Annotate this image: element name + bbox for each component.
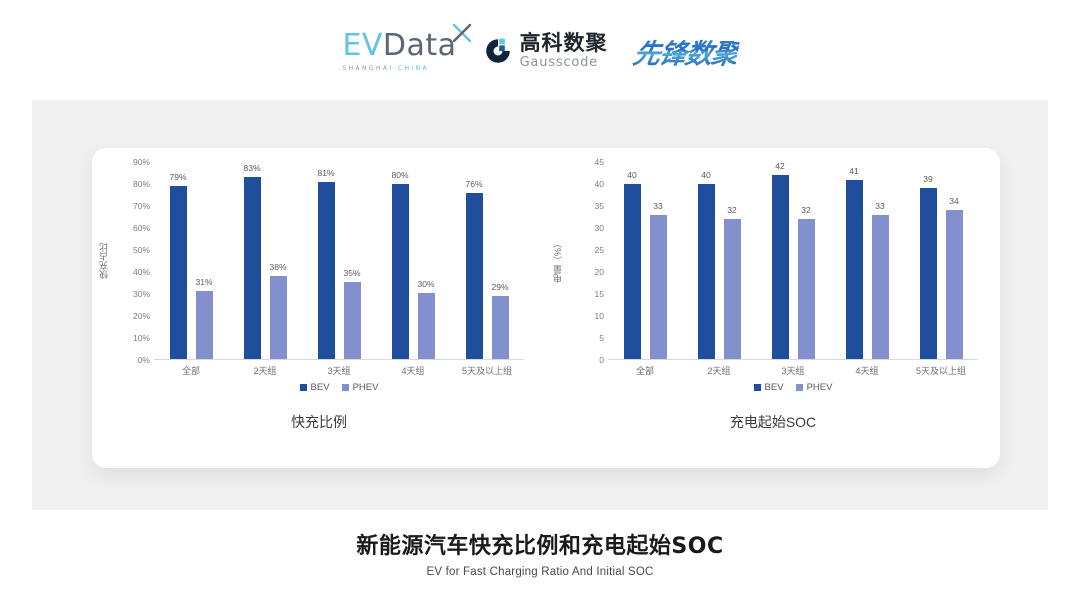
- y-tick-label: 20%: [133, 311, 150, 321]
- bar-fill: [492, 296, 509, 359]
- bar-bev[interactable]: 39: [920, 188, 937, 359]
- y-tick-label: 35: [595, 201, 604, 211]
- bar-fill: [698, 184, 715, 359]
- legend-swatch-bev: [754, 384, 761, 391]
- chart-title-left: 快充比例: [92, 412, 546, 432]
- x-tick-label: 全部: [608, 364, 682, 377]
- bar-value-label: 32: [801, 205, 810, 215]
- bar-value-label: 80%: [391, 170, 408, 180]
- bar-value-label: 79%: [169, 172, 186, 182]
- plot-area-left: 79%31%83%38%81%35%80%30%76%29%: [154, 162, 524, 360]
- y-tick-label: 40%: [133, 267, 150, 277]
- y-tick-label: 90%: [133, 157, 150, 167]
- legend-label-bev: BEV: [311, 382, 330, 393]
- bar-phev[interactable]: 35%: [344, 282, 361, 359]
- bar-phev[interactable]: 34: [946, 210, 963, 359]
- legend-left: BEV PHEV: [154, 382, 524, 393]
- x-axis-line-right: [608, 359, 978, 360]
- bar-group: 76%29%: [450, 162, 524, 359]
- legend-right: BEV PHEV: [608, 382, 978, 393]
- y-tick-label: 45: [595, 157, 604, 167]
- bar-bev[interactable]: 42: [772, 175, 789, 359]
- gausscode-cn-name: 高科数聚: [520, 33, 608, 54]
- chart-title-right: 充电起始SOC: [546, 412, 1000, 432]
- evdata-logo: EVData SHANGHAI CHINA: [342, 31, 456, 72]
- legend-label-phev: PHEV: [353, 382, 379, 393]
- gausscode-mark-icon: [483, 36, 513, 66]
- y-tick-label: 20: [595, 267, 604, 277]
- y-tick-label: 15: [595, 289, 604, 299]
- bar-fill: [772, 175, 789, 359]
- bar-value-label: 30%: [417, 279, 434, 289]
- bar-group: 79%31%: [154, 162, 228, 359]
- gausscode-text-block: 高科数聚 Gausscode: [520, 33, 608, 69]
- bar-group: 4032: [682, 162, 756, 359]
- bar-bev[interactable]: 40: [624, 184, 641, 359]
- x-axis-labels-left: 全部2天组3天组4天组5天及以上组: [154, 364, 524, 377]
- y-tick-label: 30%: [133, 289, 150, 299]
- y-tick-label: 0%: [138, 355, 150, 365]
- x-cross-icon: [452, 23, 472, 43]
- legend-swatch-bev: [300, 384, 307, 391]
- bar-group: 4232: [756, 162, 830, 359]
- bar-bev[interactable]: 79%: [170, 186, 187, 359]
- bar-value-label: 32: [727, 205, 736, 215]
- bar-fill: [196, 291, 213, 359]
- y-tick-label: 25: [595, 245, 604, 255]
- bar-group: 4133: [830, 162, 904, 359]
- bar-fill: [872, 215, 889, 359]
- bar-group: 4033: [608, 162, 682, 359]
- y-tick-label: 50%: [133, 245, 150, 255]
- legend-item-bev[interactable]: BEV: [300, 382, 330, 393]
- bar-bev[interactable]: 40: [698, 184, 715, 359]
- y-axis-ticks-right: 454035302520151050: [566, 162, 604, 360]
- bar-fill: [418, 293, 435, 359]
- bar-value-label: 41: [849, 166, 858, 176]
- bar-phev[interactable]: 29%: [492, 296, 509, 359]
- bar-bev[interactable]: 80%: [392, 184, 409, 359]
- bar-fill: [946, 210, 963, 359]
- bar-value-label: 29%: [491, 282, 508, 292]
- x-tick-label: 全部: [154, 364, 228, 377]
- bar-value-label: 34: [949, 196, 958, 206]
- legend-item-phev[interactable]: PHEV: [796, 382, 833, 393]
- x-tick-label: 3天组: [302, 364, 376, 377]
- logo-bar: EVData SHANGHAI CHINA 高科数聚: [0, 22, 1080, 80]
- y-tick-label: 0: [599, 355, 604, 365]
- bar-group: 3934: [904, 162, 978, 359]
- evdata-wordmark: EVData: [342, 31, 456, 61]
- bar-phev[interactable]: 33: [872, 215, 889, 359]
- footer-titles: 新能源汽车快充比例和充电起始SOC EV for Fast Charging R…: [0, 528, 1080, 578]
- x-tick-label: 4天组: [830, 364, 904, 377]
- bar-fill: [624, 184, 641, 359]
- xianfeng-logo: 先锋数聚: [630, 32, 741, 71]
- bar-value-label: 83%: [243, 163, 260, 173]
- chart-initial-soc: 电量（%） 454035302520151050 403340324232413…: [546, 150, 1000, 450]
- x-tick-label: 5天及以上组: [904, 364, 978, 377]
- y-tick-label: 5: [599, 333, 604, 343]
- legend-label-bev: BEV: [765, 382, 784, 393]
- bar-bev[interactable]: 41: [846, 180, 863, 359]
- y-tick-label: 70%: [133, 201, 150, 211]
- bar-bev[interactable]: 83%: [244, 177, 261, 359]
- evdata-tagline-city: SHANGHAI: [342, 65, 393, 72]
- charts-container: 快充占比 90%80%70%60%50%40%30%20%10%0% 79%31…: [92, 150, 1000, 450]
- bar-value-label: 33: [653, 201, 662, 211]
- bar-value-label: 76%: [465, 179, 482, 189]
- gausscode-en-name: Gausscode: [520, 56, 608, 69]
- bar-phev[interactable]: 38%: [270, 276, 287, 359]
- bar-fill: [344, 282, 361, 359]
- evdata-data-text: Data: [383, 28, 457, 63]
- y-tick-label: 40: [595, 179, 604, 189]
- bar-fill: [170, 186, 187, 359]
- y-axis-title-right: 电量（%）: [550, 162, 564, 360]
- bar-value-label: 35%: [343, 268, 360, 278]
- evdata-tagline-country: CHINA: [398, 65, 429, 72]
- bar-fill: [920, 188, 937, 359]
- bar-groups-left: 79%31%83%38%81%35%80%30%76%29%: [154, 162, 524, 359]
- bar-value-label: 38%: [269, 262, 286, 272]
- x-tick-label: 2天组: [682, 364, 756, 377]
- legend-swatch-phev: [342, 384, 349, 391]
- bar-bev[interactable]: 81%: [318, 182, 335, 359]
- legend-item-phev[interactable]: PHEV: [342, 382, 379, 393]
- bar-fill: [466, 193, 483, 359]
- bar-phev[interactable]: 32: [798, 219, 815, 359]
- bar-fill: [650, 215, 667, 359]
- y-axis-ticks-left: 90%80%70%60%50%40%30%20%10%0%: [112, 162, 150, 360]
- bar-fill: [318, 182, 335, 359]
- bar-fill: [392, 184, 409, 359]
- bar-value-label: 40: [701, 170, 710, 180]
- bar-value-label: 40: [627, 170, 636, 180]
- chart-fast-charging-ratio: 快充占比 90%80%70%60%50%40%30%20%10%0% 79%31…: [92, 150, 546, 450]
- bar-group: 80%30%: [376, 162, 450, 359]
- y-tick-label: 30: [595, 223, 604, 233]
- bar-value-label: 42: [775, 161, 784, 171]
- bar-bev[interactable]: 76%: [466, 193, 483, 359]
- page-title: 新能源汽车快充比例和充电起始SOC: [0, 528, 1080, 560]
- x-axis-line-left: [154, 359, 524, 360]
- bar-phev[interactable]: 30%: [418, 293, 435, 359]
- y-tick-label: 10: [595, 311, 604, 321]
- x-tick-label: 2天组: [228, 364, 302, 377]
- evdata-ev-text: EV: [342, 28, 382, 63]
- x-tick-label: 5天及以上组: [450, 364, 524, 377]
- bar-fill: [244, 177, 261, 359]
- gausscode-logo: 高科数聚 Gausscode: [483, 33, 608, 69]
- y-tick-label: 60%: [133, 223, 150, 233]
- bar-fill: [798, 219, 815, 359]
- bar-group: 81%35%: [302, 162, 376, 359]
- legend-item-bev[interactable]: BEV: [754, 382, 784, 393]
- bar-group: 83%38%: [228, 162, 302, 359]
- legend-label-phev: PHEV: [807, 382, 833, 393]
- evdata-tagline: SHANGHAI CHINA: [342, 65, 429, 72]
- bar-phev[interactable]: 32: [724, 219, 741, 359]
- slide-page: EVData SHANGHAI CHINA 高科数聚: [0, 0, 1080, 608]
- plot-area-right: 40334032423241333934: [608, 162, 978, 360]
- bar-value-label: 31%: [195, 277, 212, 287]
- x-axis-labels-right: 全部2天组3天组4天组5天及以上组: [608, 364, 978, 377]
- bar-value-label: 33: [875, 201, 884, 211]
- bar-fill: [846, 180, 863, 359]
- bar-fill: [724, 219, 741, 359]
- y-tick-label: 10%: [133, 333, 150, 343]
- bar-phev[interactable]: 31%: [196, 291, 213, 359]
- bar-phev[interactable]: 33: [650, 215, 667, 359]
- bar-value-label: 39: [923, 174, 932, 184]
- y-axis-title-left: 快充占比: [96, 162, 110, 360]
- x-tick-label: 3天组: [756, 364, 830, 377]
- y-tick-label: 80%: [133, 179, 150, 189]
- legend-swatch-phev: [796, 384, 803, 391]
- bar-value-label: 81%: [317, 168, 334, 178]
- x-tick-label: 4天组: [376, 364, 450, 377]
- bar-fill: [270, 276, 287, 359]
- page-subtitle: EV for Fast Charging Ratio And Initial S…: [0, 566, 1080, 578]
- bar-groups-right: 40334032423241333934: [608, 162, 978, 359]
